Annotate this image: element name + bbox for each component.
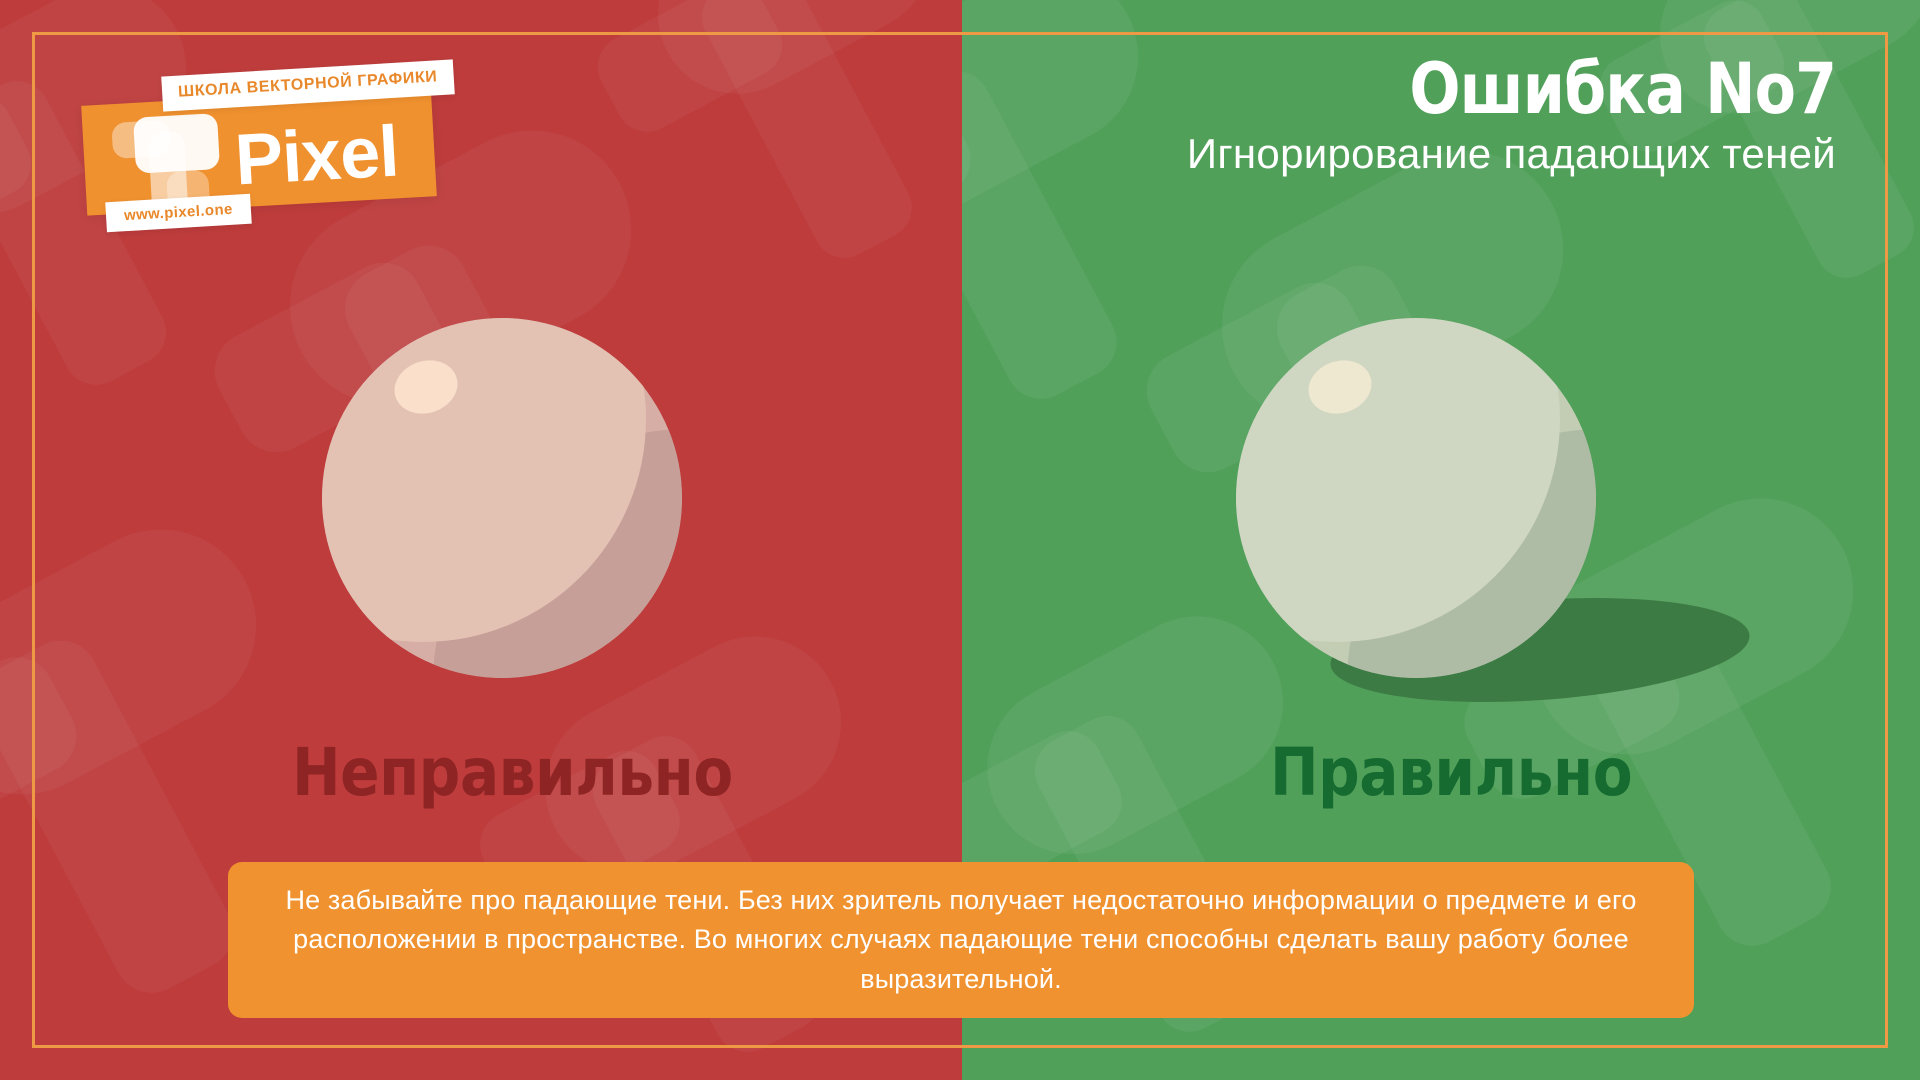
infographic-slide: Неправильно Правильно Ошибка No7 Игнорир… <box>0 0 1920 1080</box>
sphere-without-shadow <box>322 318 682 678</box>
brand-name: Pixel <box>233 116 400 197</box>
caption-box: Не забывайте про падающие тени. Без них … <box>228 862 1694 1018</box>
sphere-with-shadow-icon <box>1236 318 1596 678</box>
verdict-label-correct: Правильно <box>1270 740 1632 806</box>
sphere-with-shadow <box>1236 318 1596 678</box>
brand-logo[interactable]: Pixel ШКОЛА ВЕКТОРНОЙ ГРАФИКИ www.pixel.… <box>80 68 460 228</box>
verdict-label-wrong: Неправильно <box>292 740 733 806</box>
page-title: Ошибка No7 <box>1278 54 1836 125</box>
header: Ошибка No7 Игнорирование падающих теней <box>1187 54 1836 180</box>
caption-text: Не забывайте про падающие тени. Без них … <box>274 881 1648 999</box>
page-subtitle: Игнорирование падающих теней <box>1187 129 1836 179</box>
sphere-no-shadow-icon <box>322 318 682 678</box>
